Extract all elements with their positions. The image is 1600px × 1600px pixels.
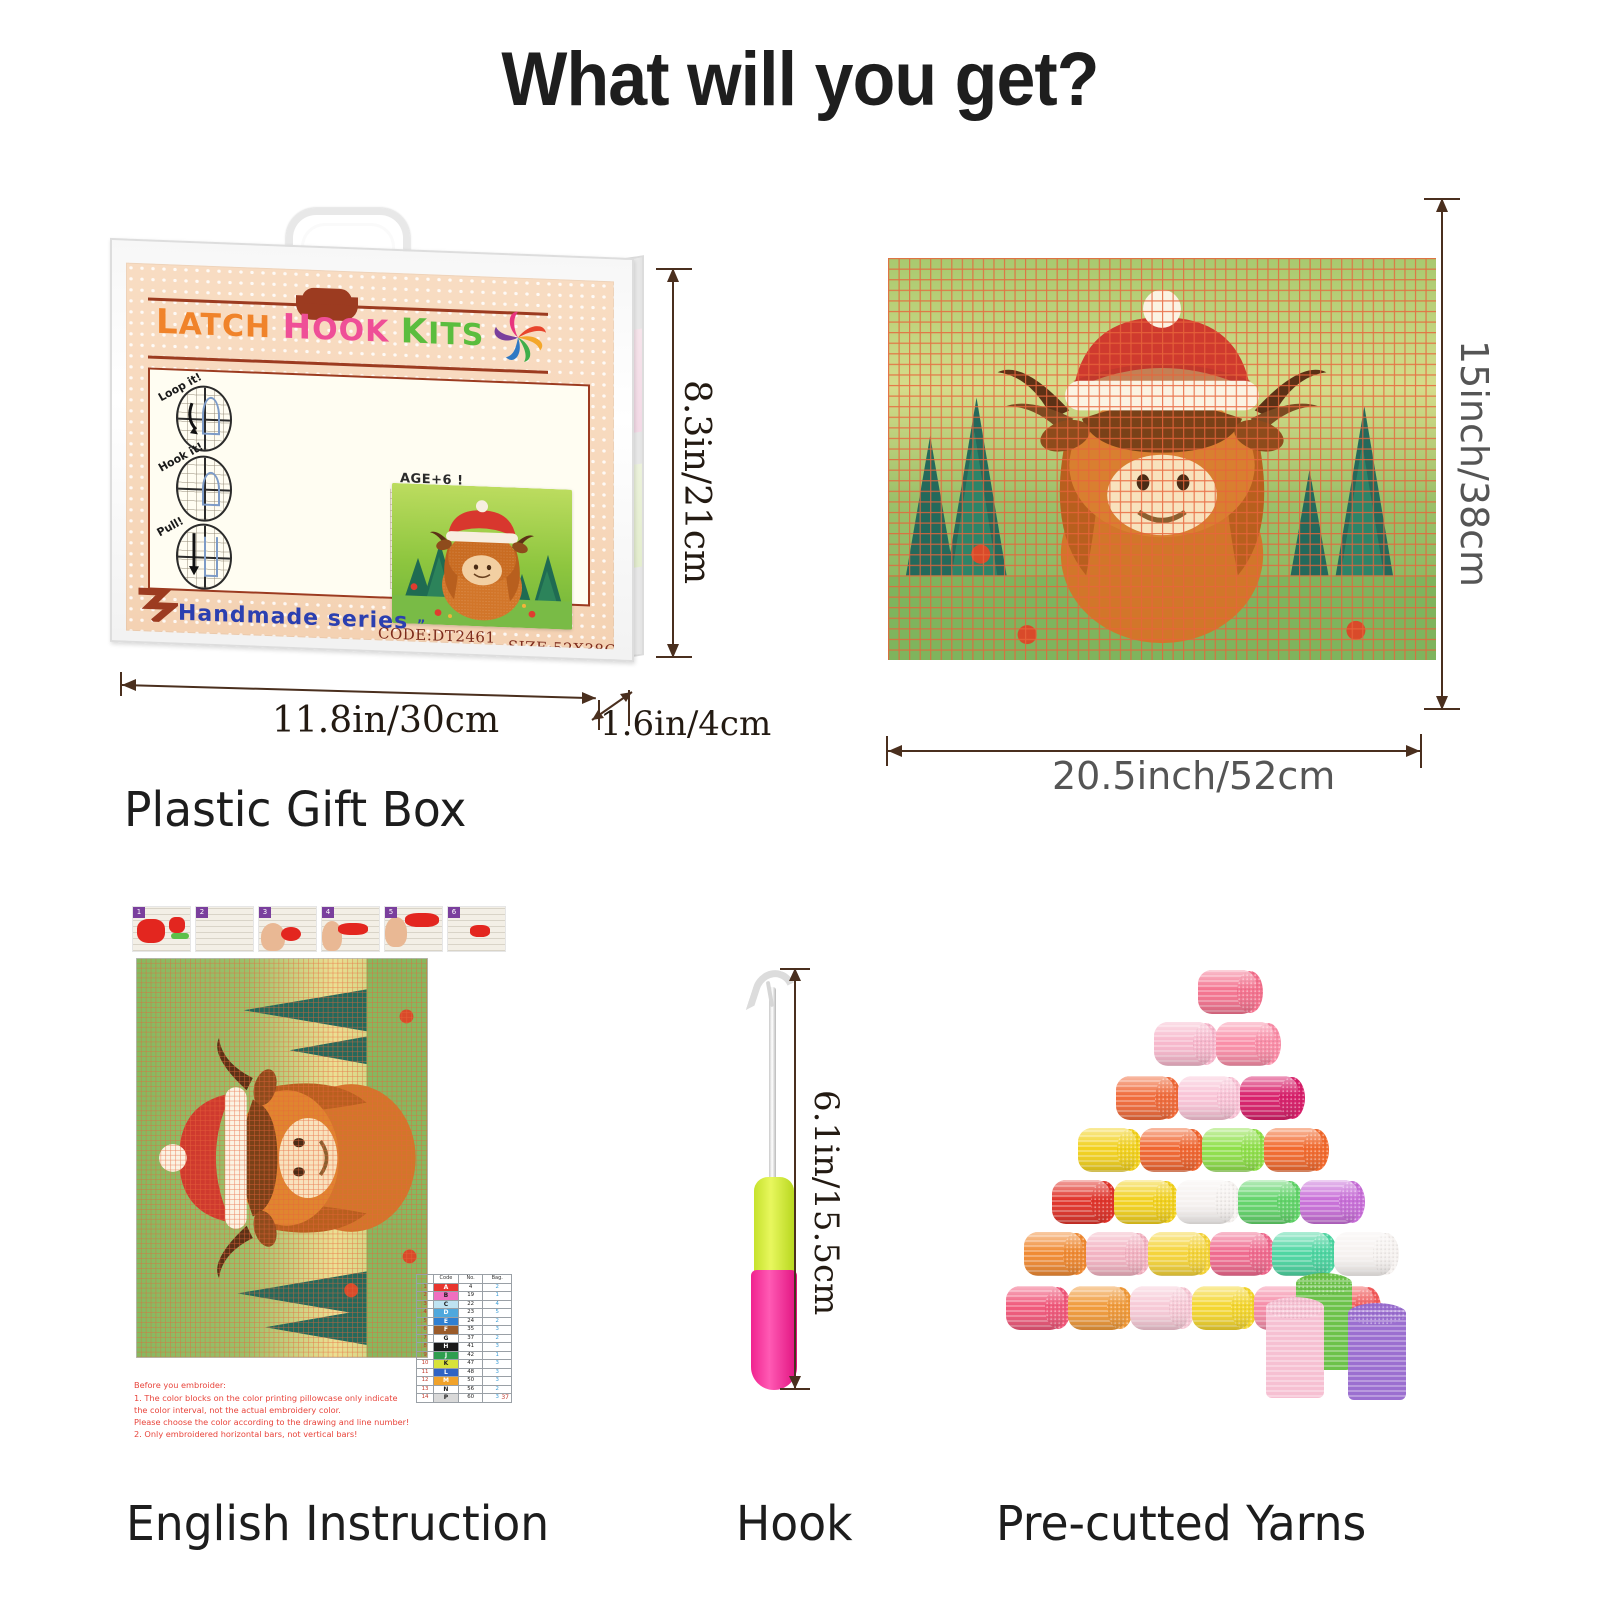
note-line: 2. Only embroidered horizontal bars, not… (134, 1429, 434, 1441)
cow-preview-photo (392, 483, 572, 630)
caption-gift-box: Plastic Gift Box (124, 782, 466, 838)
cell-bag: 2 (483, 1385, 512, 1394)
photo-step-number: 6 (448, 907, 460, 918)
cell-bag: 2 (483, 1283, 512, 1292)
cell-index: 6 (417, 1326, 434, 1335)
table-row: 3C224 (417, 1300, 512, 1309)
table-row: 7G372 (417, 1334, 512, 1343)
table-row: 5E242 (417, 1317, 512, 1326)
canvas-height-value: 15inch/38cm (1452, 340, 1496, 587)
instruction-photo-strip: 1 2 3 4 5 (132, 906, 506, 950)
table-row: 1A42 (417, 1283, 512, 1292)
step-diagram-3 (176, 523, 232, 591)
cell-no: 24 (458, 1317, 483, 1326)
english-instruction-sheet: 1 2 3 4 5 (126, 906, 516, 1466)
cell-code: N (434, 1385, 459, 1394)
photo-step-number: 3 (259, 907, 271, 918)
cell-code: K (434, 1360, 459, 1369)
cell-code: D (434, 1309, 459, 1318)
col-no: No. (458, 1275, 483, 1284)
cell-bag: 5 (483, 1309, 512, 1318)
cell-index: 3 (417, 1300, 434, 1309)
table-row: 11L483 (417, 1368, 512, 1377)
instruction-photo: 3 (258, 906, 317, 952)
color-legend-table: Code No. Bag. 1A422B1913C2244D2355E2426F… (416, 1274, 512, 1392)
cell-code: B (434, 1292, 459, 1301)
photo-step-number: 2 (196, 907, 208, 918)
table-row: 8H413 (417, 1343, 512, 1352)
cell-code: E (434, 1317, 459, 1326)
cell-no: 60 (458, 1394, 483, 1403)
cell-code: L (434, 1368, 459, 1377)
instruction-photo: 6 (447, 906, 506, 952)
instruction-photo: 2 (195, 906, 254, 952)
cell-index: 10 (417, 1360, 434, 1369)
zigzag-ornament-icon (138, 581, 178, 623)
note-line: Please choose the color according to the… (134, 1417, 434, 1429)
cell-no: 56 (458, 1385, 483, 1394)
table-header-row: Code No. Bag. (417, 1275, 512, 1284)
product-infographic: What will you get? LLatchATCH HOOK KITS (0, 0, 1600, 1600)
cell-no: 22 (458, 1300, 483, 1309)
col-index (417, 1275, 434, 1284)
table-row: 9J421 (417, 1351, 512, 1360)
pinwheel-icon (486, 304, 550, 370)
cell-bag: 3 (483, 1343, 512, 1352)
instruction-photo: 1 (132, 906, 191, 952)
cell-bag: 3 (483, 1377, 512, 1386)
hook-handle-lower (751, 1270, 797, 1390)
cell-code: M (434, 1377, 459, 1386)
pattern-chart (136, 958, 428, 1358)
col-code: Code (434, 1275, 459, 1284)
note-heading: Before you embroider: (134, 1380, 434, 1392)
cell-no: 47 (458, 1360, 483, 1369)
cell-no: 50 (458, 1377, 483, 1386)
note-line: the color interval, not the actual embro… (134, 1405, 434, 1417)
gift-box-photo: LLatchATCH HOOK KITS Loop it! (108, 200, 668, 670)
cell-index: 1 (417, 1283, 434, 1292)
hook-length-value: 6.1in/15.5cm (806, 1090, 846, 1315)
cell-bag: 4 (483, 1300, 512, 1309)
caption-yarns: Pre-cutted Yarns (996, 1496, 1366, 1552)
table-row: 2B191 (417, 1292, 512, 1301)
mesh-canvas-photo (888, 258, 1436, 660)
cell-bag: 3 (483, 1360, 512, 1369)
step-diagram-1 (176, 385, 232, 453)
box-printed-card: LLatchATCH HOOK KITS Loop it! (126, 263, 614, 650)
cell-no: 23 (458, 1309, 483, 1318)
cell-code: G (434, 1334, 459, 1343)
canvas-width-value: 20.5inch/52cm (1052, 754, 1335, 798)
cell-index: 7 (417, 1334, 434, 1343)
cell-no: 35 (458, 1326, 483, 1335)
hook-handle-upper (754, 1177, 794, 1275)
table-row: 10K473 (417, 1360, 512, 1369)
box-width-value: 11.8in/30cm (272, 700, 499, 741)
cell-index: 4 (417, 1309, 434, 1318)
cell-no: 4 (458, 1283, 483, 1292)
note-line: 1. The color blocks on the color printin… (134, 1393, 434, 1405)
col-bag: Bag. (483, 1275, 512, 1284)
pre-cutted-yarns-photo (966, 930, 1466, 1400)
cell-index: 8 (417, 1343, 434, 1352)
table-row: 4D235 (417, 1309, 512, 1318)
photo-step-number: 1 (133, 907, 145, 918)
cell-index: 2 (417, 1292, 434, 1301)
cell-no: 48 (458, 1368, 483, 1377)
step-diagram-2 (176, 455, 232, 523)
cell-code: A (434, 1283, 459, 1292)
photo-step-number: 4 (322, 907, 334, 918)
cell-no: 42 (458, 1351, 483, 1360)
card-inner-panel: Loop it! Hook it! Pull! AGE+6 ! (148, 367, 590, 606)
cell-code: C (434, 1300, 459, 1309)
cell-index: 5 (417, 1317, 434, 1326)
caption-hook: Hook (736, 1496, 852, 1552)
page-title: What will you get? (64, 36, 1536, 123)
cell-index: 11 (417, 1368, 434, 1377)
table-row: 6F353 (417, 1326, 512, 1335)
cell-bag: 3 (483, 1368, 512, 1377)
box-height-value: 8.3in/21cm (676, 380, 717, 584)
cell-index: 9 (417, 1351, 434, 1360)
cell-no: 41 (458, 1343, 483, 1352)
photo-step-number: 5 (385, 907, 397, 918)
cell-no: 37 (458, 1334, 483, 1343)
cell-no: 19 (458, 1292, 483, 1301)
cell-code: J (434, 1351, 459, 1360)
before-you-embroider-note: Before you embroider: 1. The color block… (134, 1380, 434, 1440)
cell-code: F (434, 1326, 459, 1335)
cell-bag: 1 (483, 1351, 512, 1360)
cell-bag: 2 (483, 1317, 512, 1326)
box-depth-value: 1.6in/4cm (600, 704, 771, 744)
color-total: 37 (501, 1394, 509, 1401)
cell-bag: 3 (483, 1326, 512, 1335)
cell-code: P (434, 1394, 459, 1403)
cell-bag: 2 (483, 1334, 512, 1343)
cell-code: H (434, 1343, 459, 1352)
instruction-photo: 4 (321, 906, 380, 952)
cell-bag: 1 (483, 1292, 512, 1301)
caption-instruction: English Instruction (126, 1496, 549, 1552)
instruction-photo: 5 (384, 906, 443, 952)
